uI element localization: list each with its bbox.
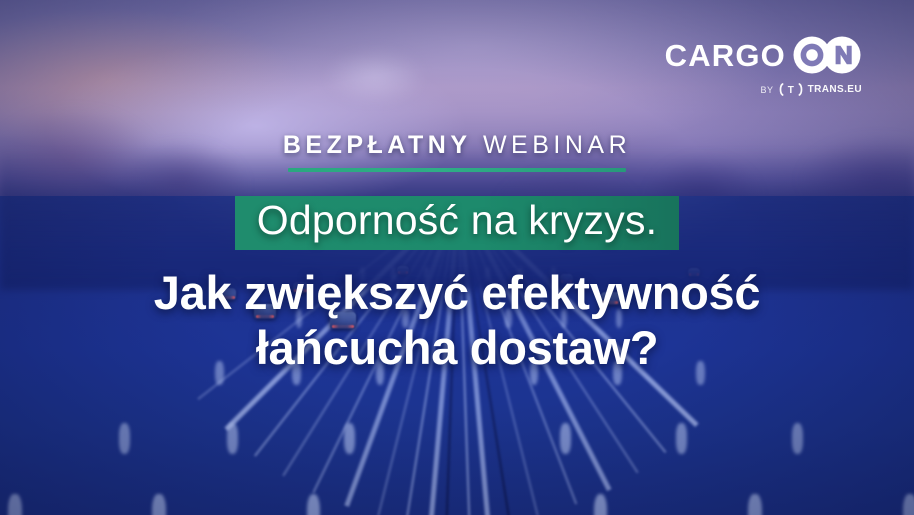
kicker-underline-rule xyxy=(288,168,626,172)
webinar-promo-slide: CARGO BY T T xyxy=(0,0,914,515)
slide-content: BEZPŁATNY WEBINAR Odporność na kryzys. J… xyxy=(0,0,914,515)
headline: Jak zwiększyć efektywność łańcucha dosta… xyxy=(154,266,760,375)
highlight-text: Odporność na kryzys. xyxy=(257,200,658,241)
headline-line-2: łańcucha dostaw? xyxy=(154,321,760,376)
kicker-bold: BEZPŁATNY xyxy=(283,131,472,159)
kicker-line: BEZPŁATNY WEBINAR xyxy=(283,133,631,158)
kicker-light: WEBINAR xyxy=(483,131,631,159)
kicker-block: BEZPŁATNY WEBINAR xyxy=(283,133,631,172)
highlight-band: Odporność na kryzys. xyxy=(235,196,680,250)
headline-line-1: Jak zwiększyć efektywność xyxy=(154,266,760,319)
